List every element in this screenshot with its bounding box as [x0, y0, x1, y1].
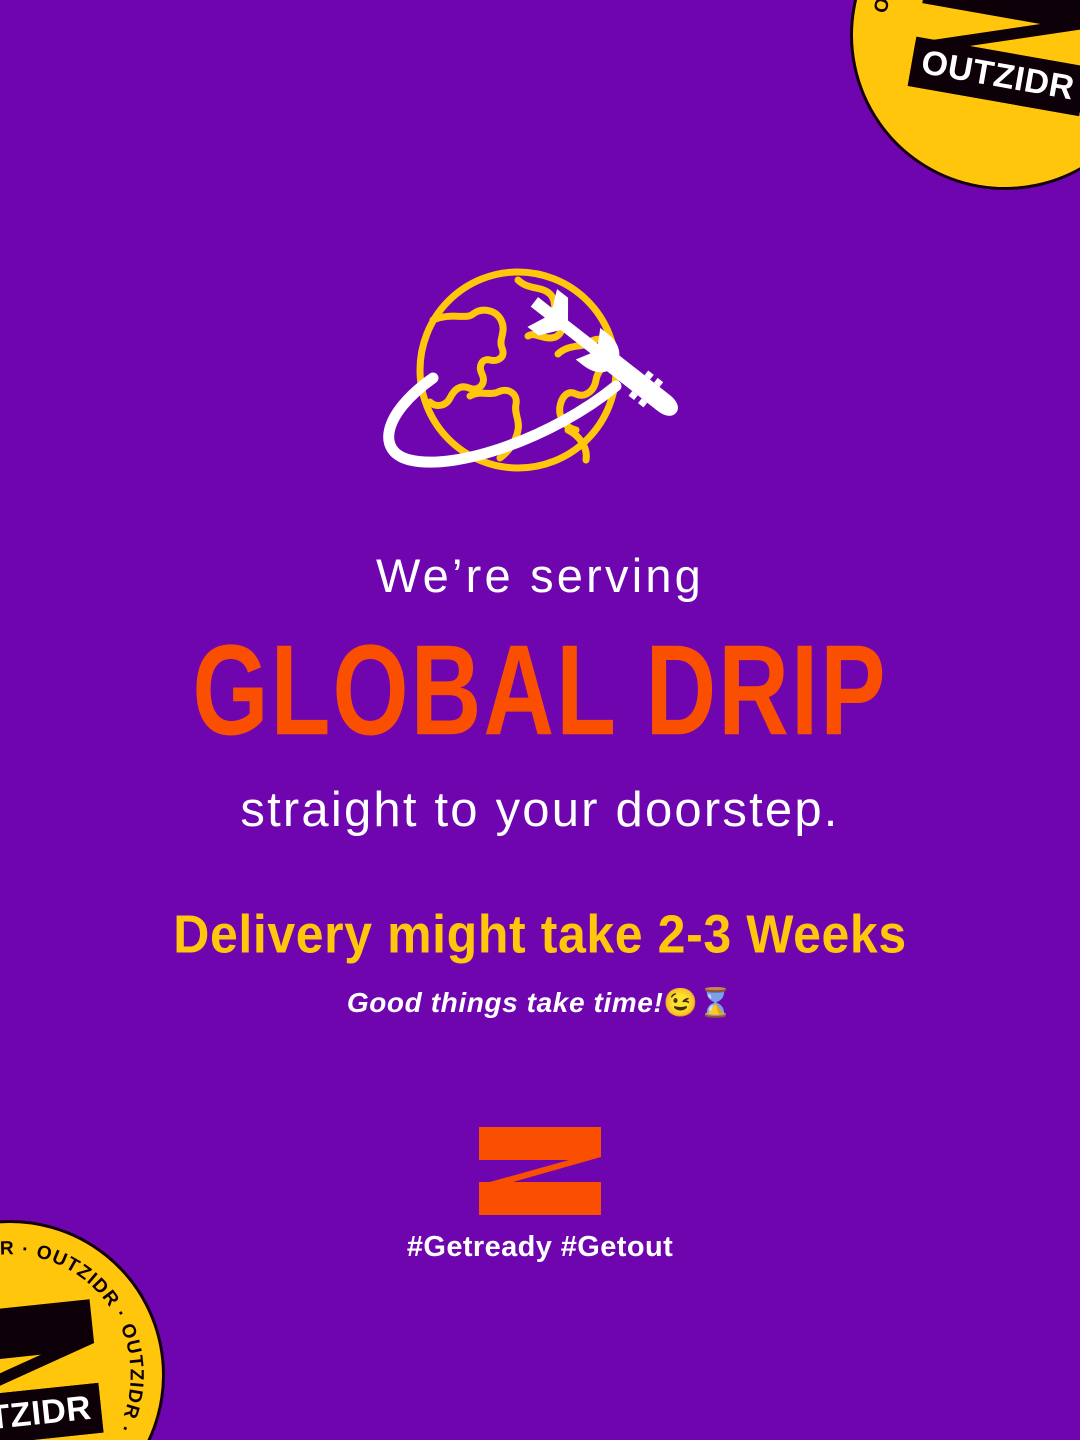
- outzidr-z-logo: [477, 1125, 603, 1217]
- badge-core-bottom: OUTZIDR: [0, 1290, 112, 1440]
- hero-icon-wrap: [0, 262, 1080, 492]
- wink-hourglass-emoji: 😉⌛: [663, 987, 733, 1018]
- headline: GLOBAL DRIP: [0, 627, 1080, 756]
- tagline-line-1: We’re serving: [0, 552, 1080, 599]
- tagline-line-2: straight to your doorstep.: [0, 786, 1080, 835]
- globe-with-airplane-icon: [370, 262, 710, 492]
- delivery-notice: Delivery might take 2-3 Weeks: [0, 907, 1080, 961]
- promo-poster: OUTZIDR · OUTZIDR · OUTZIDR · OUTZIDR · …: [0, 0, 1080, 1440]
- copy-block: We’re serving GLOBAL DRIP straight to yo…: [0, 552, 1080, 1017]
- outzidr-badge-top-right: OUTZIDR · OUTZIDR · OUTZIDR · OUTZIDR · …: [825, 0, 1080, 215]
- delivery-subnote: Good things take time!😉⌛: [0, 989, 1080, 1017]
- delivery-subnote-text: Good things take time!: [347, 987, 664, 1018]
- hashtags: #Getready #Getout: [0, 1231, 1080, 1264]
- footer-block: #Getready #Getout: [0, 1125, 1080, 1264]
